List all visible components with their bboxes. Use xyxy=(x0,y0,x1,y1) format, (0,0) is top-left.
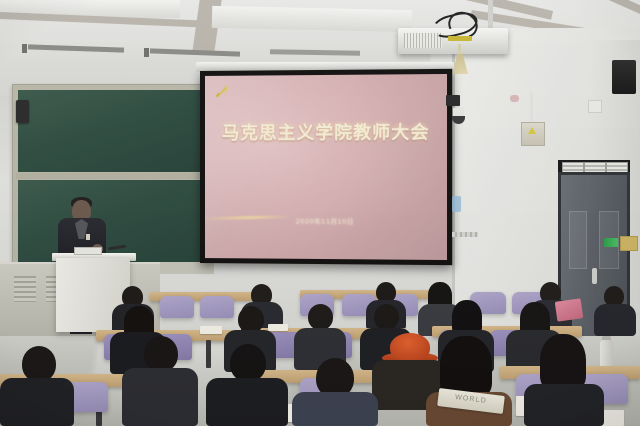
attendee-head xyxy=(540,334,586,390)
attendee-head xyxy=(374,304,399,330)
attendee-orange-hat xyxy=(390,333,430,361)
ceiling-soffit xyxy=(212,6,412,32)
ceiling-beam xyxy=(549,0,640,22)
slide-title: 马克思主义学院教师大会 xyxy=(205,119,447,145)
wall-speaker-left xyxy=(16,100,29,123)
electrical-panel xyxy=(521,122,545,146)
seat xyxy=(160,296,194,318)
attendee-head xyxy=(22,346,56,382)
attendee-torso xyxy=(292,392,378,426)
attendee-torso xyxy=(594,304,636,336)
fluorescent-light xyxy=(270,49,360,56)
lecture-hall-photo: 马克思主义学院教师大会 2020年11月10日 xyxy=(0,0,640,426)
pink-notebook xyxy=(555,298,584,321)
light-mount xyxy=(22,44,27,53)
podium-laptop xyxy=(74,247,102,255)
wall-speaker-right xyxy=(612,60,636,94)
hammer-and-sickle-party-emblem xyxy=(214,83,230,99)
projector-label xyxy=(448,36,472,41)
attendee-torso xyxy=(0,378,74,426)
attendee-head xyxy=(308,304,333,330)
attendee-head xyxy=(144,336,178,372)
presenter-badge xyxy=(86,234,90,240)
slide-date: 2020年11月10日 xyxy=(205,215,447,226)
presentation-slide: 马克思主义学院教师大会 2020年11月10日 xyxy=(205,74,447,260)
electrical-conduit xyxy=(530,92,533,124)
warning-triangle-icon xyxy=(528,127,536,134)
exit-sign xyxy=(604,238,618,247)
projector-mount-pole xyxy=(488,0,493,30)
door-panel xyxy=(569,211,587,269)
wall-monitor xyxy=(446,95,460,106)
projection-screen: 马克思主义学院教师大会 2020年11月10日 xyxy=(200,69,452,265)
attendee-head xyxy=(230,344,266,382)
attendee-torso xyxy=(122,368,198,426)
seat xyxy=(200,296,234,318)
smoke-detector xyxy=(510,95,519,102)
fluorescent-light xyxy=(150,48,240,56)
desk-leg xyxy=(206,340,211,368)
notice-placard xyxy=(620,236,638,251)
chalkboard xyxy=(12,84,210,268)
chalkboard-upper-panel xyxy=(18,90,204,172)
attendee-torso xyxy=(206,378,288,426)
chalkboard-rail xyxy=(16,173,206,179)
coat-hooks xyxy=(452,232,478,237)
door-handle[interactable] xyxy=(592,268,597,284)
attendee-head xyxy=(238,306,264,333)
light-mount xyxy=(144,48,149,57)
wall-sign xyxy=(452,196,461,212)
fluorescent-light xyxy=(28,44,124,52)
wall-switch xyxy=(588,100,602,113)
paper-sheet xyxy=(268,324,288,331)
cabinet-vent xyxy=(14,276,36,302)
paper-sheet xyxy=(200,326,222,334)
attendee-torso xyxy=(524,384,604,426)
slide-sheen xyxy=(205,74,447,260)
